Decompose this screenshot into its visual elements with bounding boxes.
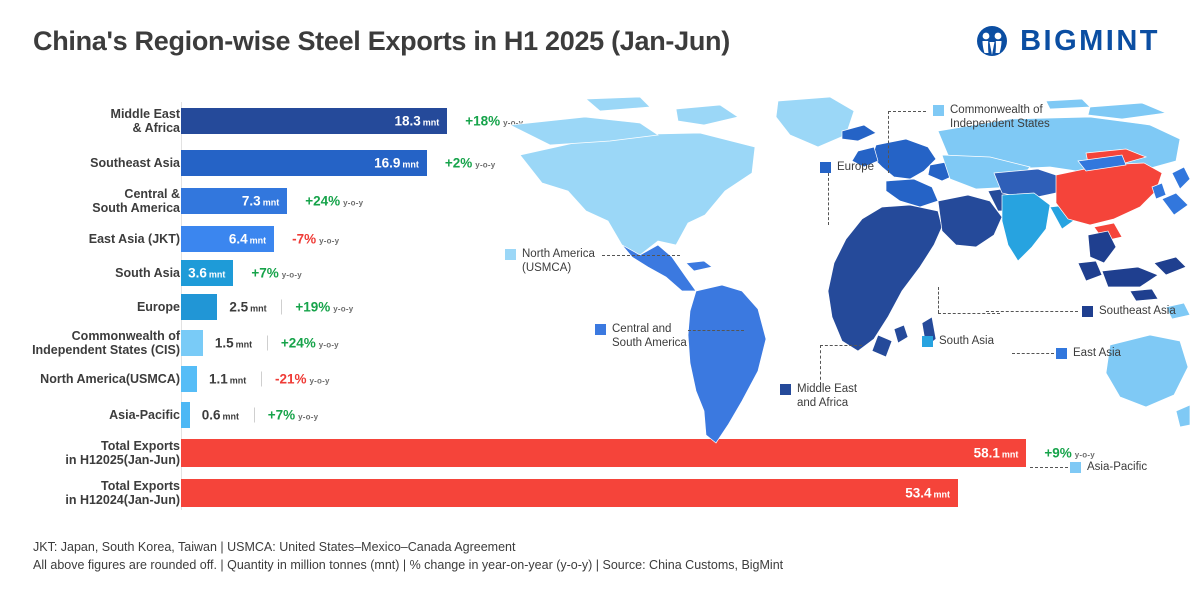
yoy-tag: y-o-y <box>343 199 363 208</box>
yoy-change: +7%y-o-y <box>251 266 302 281</box>
bar-value-number: 16.9 <box>374 156 400 171</box>
bar-label: Middle East & Africa <box>0 107 180 135</box>
map-label-europe: Europe <box>820 161 874 175</box>
bar-value: 7.3mnt <box>242 194 279 209</box>
bar-row-europe: Europe2.5mnt+19%y-o-y <box>0 292 520 322</box>
map-legend-swatch <box>1070 462 1081 473</box>
map-legend-swatch <box>595 324 606 335</box>
bar-row-total-exports-in-h12025-jan-jun: Total Exports in H12025(Jan-Jun)58.1mnt+… <box>0 438 520 468</box>
bar-value: 3.6mnt <box>188 266 225 281</box>
bar-label: Total Exports in H12024(Jan-Jun) <box>0 479 180 507</box>
map-leader-line <box>602 255 680 256</box>
bar-value-unit: mnt <box>423 118 440 128</box>
bar-value-number: 18.3 <box>394 114 420 129</box>
map-leader-line <box>888 111 889 173</box>
yoy-change: +24%y-o-y <box>305 194 363 209</box>
yoy-change: +7%y-o-y <box>268 408 319 423</box>
map-label-text: Southeast Asia <box>1099 305 1176 319</box>
map-leader-line <box>938 287 939 313</box>
map-leader-line <box>820 345 821 385</box>
bar-label: Europe <box>0 300 180 314</box>
map-leader-line <box>688 330 744 331</box>
map-label-text: Middle East and Africa <box>797 383 857 410</box>
map-leader-line <box>1012 353 1054 354</box>
bar-value-number: 3.6 <box>188 266 207 281</box>
bar-label: Asia-Pacific <box>0 408 180 422</box>
bar: 16.9mnt <box>181 150 427 176</box>
bar-value-unit: mnt <box>250 236 267 246</box>
bar-value-number: 6.4 <box>229 232 248 247</box>
footnote-line-2: All above figures are rounded off. | Qua… <box>33 556 783 574</box>
yoy-tag: y-o-y <box>282 271 302 280</box>
yoy-percent: -7% <box>292 232 316 247</box>
bar-value-unit: mnt <box>223 412 240 422</box>
bar-label: Southeast Asia <box>0 156 180 170</box>
yoy-change: -21%y-o-y <box>275 372 330 387</box>
bigmint-wordmark: BIGMINT <box>1020 25 1160 58</box>
world-map: Commonwealth of Independent StatesEurope… <box>490 95 1190 455</box>
bar: 18.3mnt <box>181 108 447 134</box>
yoy-percent: -21% <box>275 372 307 387</box>
map-label-text: North America (USMCA) <box>522 248 595 275</box>
yoy-tag: y-o-y <box>319 341 339 350</box>
yoy-percent: +24% <box>305 194 340 209</box>
bar: 7.3mnt <box>181 188 287 214</box>
value-divider <box>261 372 262 387</box>
map-legend-swatch <box>820 162 831 173</box>
bar <box>181 294 217 320</box>
yoy-tag: y-o-y <box>298 413 318 422</box>
bar-value: 6.4mnt <box>229 232 266 247</box>
bar-value: 53.4mnt <box>905 486 950 501</box>
bar-value: 1.1mnt <box>209 372 246 387</box>
bar-value-unit: mnt <box>236 340 253 350</box>
yoy-percent: +2% <box>445 156 472 171</box>
bar-value-unit: mnt <box>230 376 247 386</box>
map-legend-swatch <box>780 384 791 395</box>
yoy-percent: +24% <box>281 336 316 351</box>
bar-value-number: 2.5 <box>229 300 248 315</box>
bar-label: Total Exports in H12025(Jan-Jun) <box>0 439 180 467</box>
yoy-tag: y-o-y <box>310 377 330 386</box>
bar: 53.4mnt <box>181 479 958 507</box>
map-label-south-asia: South Asia <box>922 335 994 349</box>
bar-row-central-south-america: Central & South America7.3mnt+24%y-o-y <box>0 186 520 216</box>
map-leader-line <box>820 345 862 346</box>
bar <box>181 366 197 392</box>
bar-value: 2.5mnt <box>229 300 266 315</box>
yoy-tag: y-o-y <box>333 305 353 314</box>
bar-label: Central & South America <box>0 187 180 215</box>
map-leader-line <box>888 111 926 112</box>
map-label-text: Central and South America <box>612 323 687 350</box>
map-label-east-asia: East Asia <box>1056 347 1121 361</box>
yoy-percent: +19% <box>295 300 330 315</box>
bar-row-total-exports-in-h12024-jan-jun: Total Exports in H12024(Jan-Jun)53.4mnt <box>0 478 520 508</box>
map-label-text: Asia-Pacific <box>1087 461 1147 475</box>
bar-value-number: 53.4 <box>905 486 931 501</box>
bar-row-asia-pacific: Asia-Pacific0.6mnt+7%y-o-y <box>0 400 520 430</box>
value-divider <box>281 300 282 315</box>
yoy-change: -7%y-o-y <box>292 232 339 247</box>
value-divider <box>267 336 268 351</box>
bar-row-north-america-usmca: North America(USMCA)1.1mnt-21%y-o-y <box>0 364 520 394</box>
bar-chart: Middle East & Africa18.3mnt+18%y-o-ySout… <box>0 100 520 520</box>
bar: 6.4mnt <box>181 226 274 252</box>
bar-value-unit: mnt <box>209 270 226 280</box>
page-title: China's Region-wise Steel Exports in H1 … <box>33 26 730 57</box>
bar-value-number: 7.3 <box>242 194 261 209</box>
yoy-change: +24%y-o-y <box>281 336 339 351</box>
bar-row-east-asia-jkt: East Asia (JKT)6.4mnt-7%y-o-y <box>0 224 520 254</box>
bar-value-number: 1.1 <box>209 372 228 387</box>
bar-value: 18.3mnt <box>394 114 439 129</box>
map-label-text: Europe <box>837 161 874 175</box>
infographic-canvas: China's Region-wise Steel Exports in H1 … <box>0 0 1200 600</box>
bar-value: 1.5mnt <box>215 336 252 351</box>
map-leader-line <box>828 173 829 225</box>
yoy-change: +2%y-o-y <box>445 156 496 171</box>
value-divider <box>254 408 255 423</box>
bar-row-south-asia: South Asia3.6mnt+7%y-o-y <box>0 258 520 288</box>
map-legend-swatch <box>1082 306 1093 317</box>
bar-label: South Asia <box>0 266 180 280</box>
map-legend-swatch <box>933 105 944 116</box>
bar <box>181 402 190 428</box>
bar-value-unit: mnt <box>933 490 950 500</box>
bar-label: Commonwealth of Independent States (CIS) <box>0 329 180 357</box>
map-label-north-america-usmca: North America (USMCA) <box>505 248 595 275</box>
bigmint-mark-icon <box>973 22 1011 60</box>
map-label-southeast-asia: Southeast Asia <box>1082 305 1176 319</box>
bar-value: 16.9mnt <box>374 156 419 171</box>
footnotes: JKT: Japan, South Korea, Taiwan | USMCA:… <box>33 538 783 574</box>
map-leader-line <box>938 313 1000 314</box>
bigmint-logo: BIGMINT <box>973 22 1160 60</box>
map-legend-swatch <box>1056 348 1067 359</box>
yoy-percent: +7% <box>251 266 278 281</box>
map-label-text: Commonwealth of Independent States <box>950 104 1050 131</box>
bar <box>181 330 203 356</box>
map-label-central-and-south-america: Central and South America <box>595 323 687 350</box>
bar-row-middle-east-africa: Middle East & Africa18.3mnt+18%y-o-y <box>0 106 520 136</box>
map-legend-swatch <box>922 336 933 347</box>
bar-row-commonwealth-of-independent-states-cis: Commonwealth of Independent States (CIS)… <box>0 328 520 358</box>
yoy-change: +19%y-o-y <box>295 300 353 315</box>
bar-value: 0.6mnt <box>202 408 239 423</box>
map-label-commonwealth-of-independent-states: Commonwealth of Independent States <box>933 104 1050 131</box>
bar-value-unit: mnt <box>250 304 267 314</box>
bar-value-number: 0.6 <box>202 408 221 423</box>
bar-value-unit: mnt <box>263 198 280 208</box>
map-legend-swatch <box>505 249 516 260</box>
bar-value-number: 1.5 <box>215 336 234 351</box>
map-label-asia-pacific: Asia-Pacific <box>1070 461 1147 475</box>
bar-label: East Asia (JKT) <box>0 232 180 246</box>
footnote-line-1: JKT: Japan, South Korea, Taiwan | USMCA:… <box>33 538 783 556</box>
bar: 3.6mnt <box>181 260 233 286</box>
yoy-tag: y-o-y <box>319 237 339 246</box>
map-label-middle-east-and-africa: Middle East and Africa <box>780 383 857 410</box>
bar-value-unit: mnt <box>402 160 419 170</box>
yoy-percent: +7% <box>268 408 295 423</box>
map-leader-line <box>986 311 1078 312</box>
map-label-text: South Asia <box>939 335 994 349</box>
bar-row-southeast-asia: Southeast Asia16.9mnt+2%y-o-y <box>0 148 520 178</box>
map-label-text: East Asia <box>1073 347 1121 361</box>
bar-label: North America(USMCA) <box>0 372 180 386</box>
